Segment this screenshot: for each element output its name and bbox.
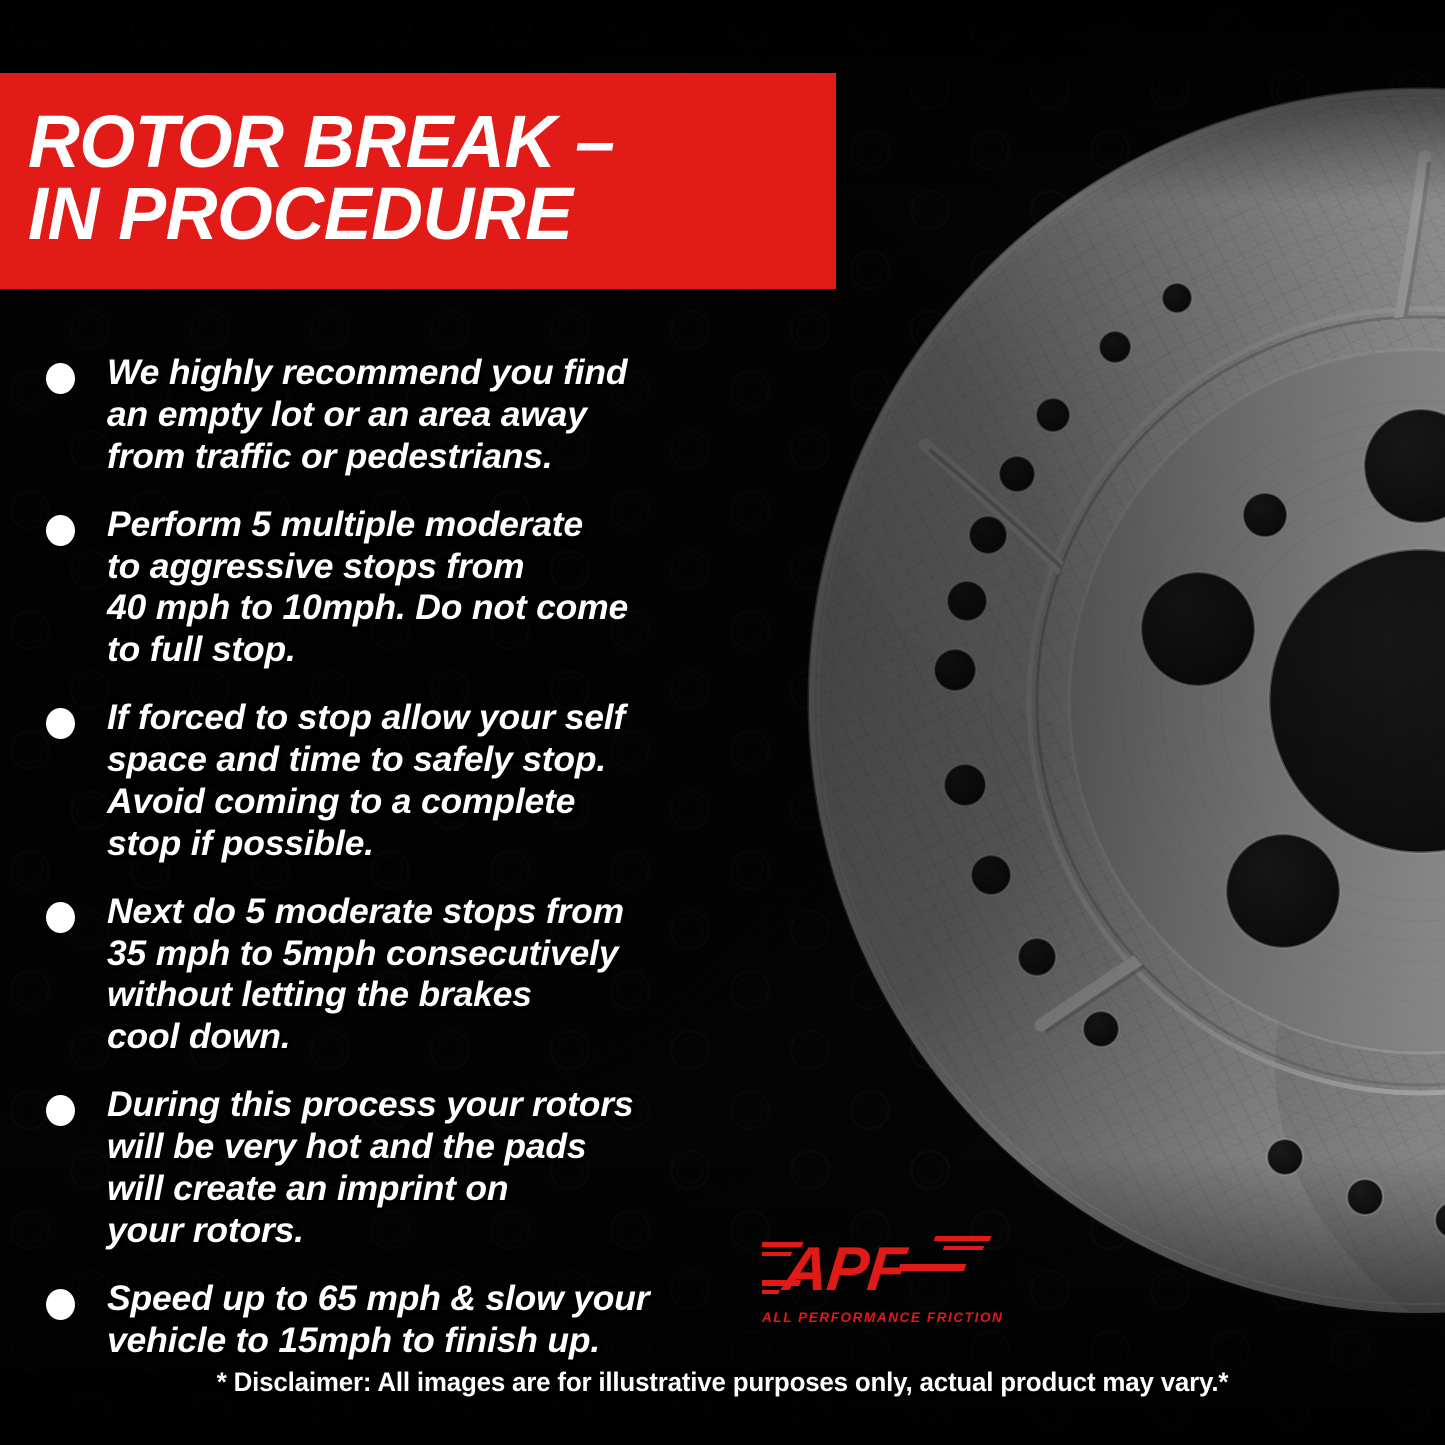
title-banner: ROTOR BREAK – IN PROCEDURE (0, 73, 836, 289)
list-item-text: We highly recommend you find an empty lo… (107, 352, 627, 478)
list-item: During this process your rotors will be … (46, 1084, 758, 1252)
disclaimer-text: * Disclaimer: All images are for illustr… (29, 1367, 1416, 1398)
page-title-line-1: ROTOR BREAK – (28, 106, 812, 178)
page-title-line-2: IN PROCEDURE (28, 178, 812, 250)
list-item: We highly recommend you find an empty lo… (46, 352, 758, 478)
list-item: If forced to stop allow your self space … (46, 697, 758, 865)
list-item-text: Perform 5 multiple moderate to aggressiv… (107, 504, 628, 672)
apf-brand-logo: APF ALL PERFORMANCE FRICTION (762, 1228, 992, 1334)
bullet-dot-icon (46, 1095, 75, 1126)
list-item: Next do 5 moderate stops from 35 mph to … (46, 891, 758, 1059)
list-item-text: Next do 5 moderate stops from 35 mph to … (107, 891, 624, 1059)
list-item: Speed up to 65 mph & slow your vehicle t… (46, 1278, 758, 1362)
list-item-text: During this process your rotors will be … (107, 1084, 633, 1252)
poster-canvas: ROTOR BREAK – IN PROCEDURE We highly rec… (0, 0, 1445, 1445)
list-item-text: If forced to stop allow your self space … (107, 697, 625, 865)
bullet-dot-icon (46, 363, 75, 394)
list-item: Perform 5 multiple moderate to aggressiv… (46, 504, 758, 672)
bullet-dot-icon (46, 708, 75, 739)
procedure-steps-list: We highly recommend you find an empty lo… (46, 352, 758, 1387)
bullet-dot-icon (46, 902, 75, 933)
apf-tagline: ALL PERFORMANCE FRICTION (762, 1310, 992, 1325)
list-item-text: Speed up to 65 mph & slow your vehicle t… (107, 1278, 649, 1362)
bullet-dot-icon (46, 1289, 75, 1320)
apf-wordmark-text: APF (778, 1235, 911, 1304)
bullet-dot-icon (46, 515, 75, 546)
